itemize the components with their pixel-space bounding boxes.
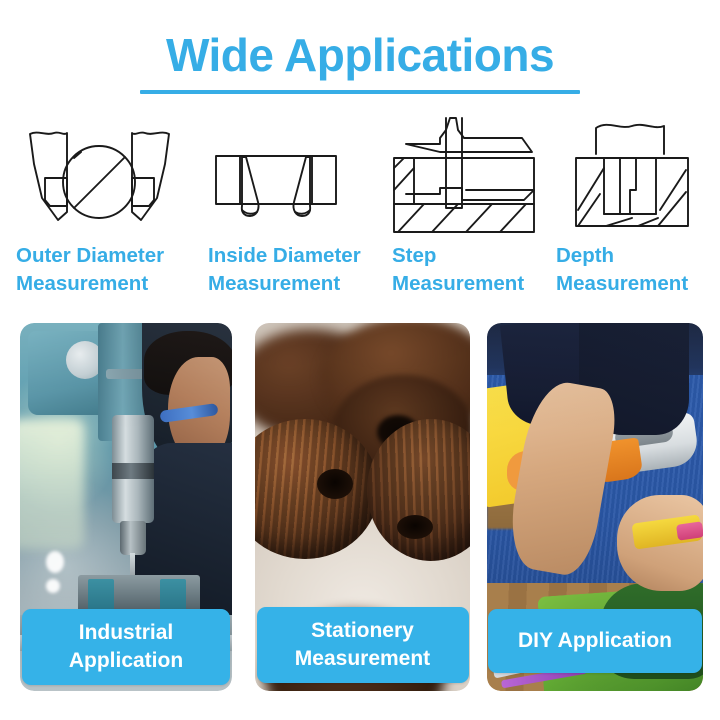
feature-label-inside-diameter: Inside Diameter Measurement bbox=[208, 242, 361, 298]
feature-label-outer-diameter: Outer Diameter Measurement bbox=[16, 242, 164, 298]
page-title: Wide Applications bbox=[0, 28, 720, 82]
feature-label-depth: Depth Measurement bbox=[556, 242, 688, 298]
feature-label-step: Step Measurement bbox=[392, 242, 524, 298]
title-underline-divider bbox=[140, 90, 580, 94]
feature-outer-diameter: Outer Diameter Measurement bbox=[0, 112, 192, 307]
card-caption-diy: DIY Application bbox=[488, 609, 702, 673]
step-measurement-caliper-icon bbox=[384, 112, 559, 237]
feature-depth: Depth Measurement bbox=[552, 112, 720, 307]
application-cards-row: Industrial Application bbox=[20, 323, 703, 691]
card-caption-industrial: Industrial Application bbox=[22, 609, 230, 685]
outer-diameter-caliper-icon bbox=[12, 112, 187, 237]
feature-step: Step Measurement bbox=[384, 112, 552, 307]
card-caption-stationery: Stationery Measurement bbox=[257, 607, 469, 683]
measurement-modes-row: Outer Diameter Measurement bbox=[0, 112, 720, 307]
card-industrial-application[interactable]: Industrial Application bbox=[20, 323, 232, 691]
wide-applications-page: Wide Applications bbox=[0, 0, 720, 720]
card-diy-application[interactable]: DIY Application bbox=[487, 323, 703, 691]
card-stationery-measurement[interactable]: Stationery Measurement bbox=[255, 323, 470, 691]
inside-diameter-caliper-icon bbox=[202, 112, 377, 237]
feature-inside-diameter: Inside Diameter Measurement bbox=[192, 112, 384, 307]
depth-measurement-caliper-icon bbox=[562, 112, 712, 237]
header: Wide Applications bbox=[0, 28, 720, 94]
